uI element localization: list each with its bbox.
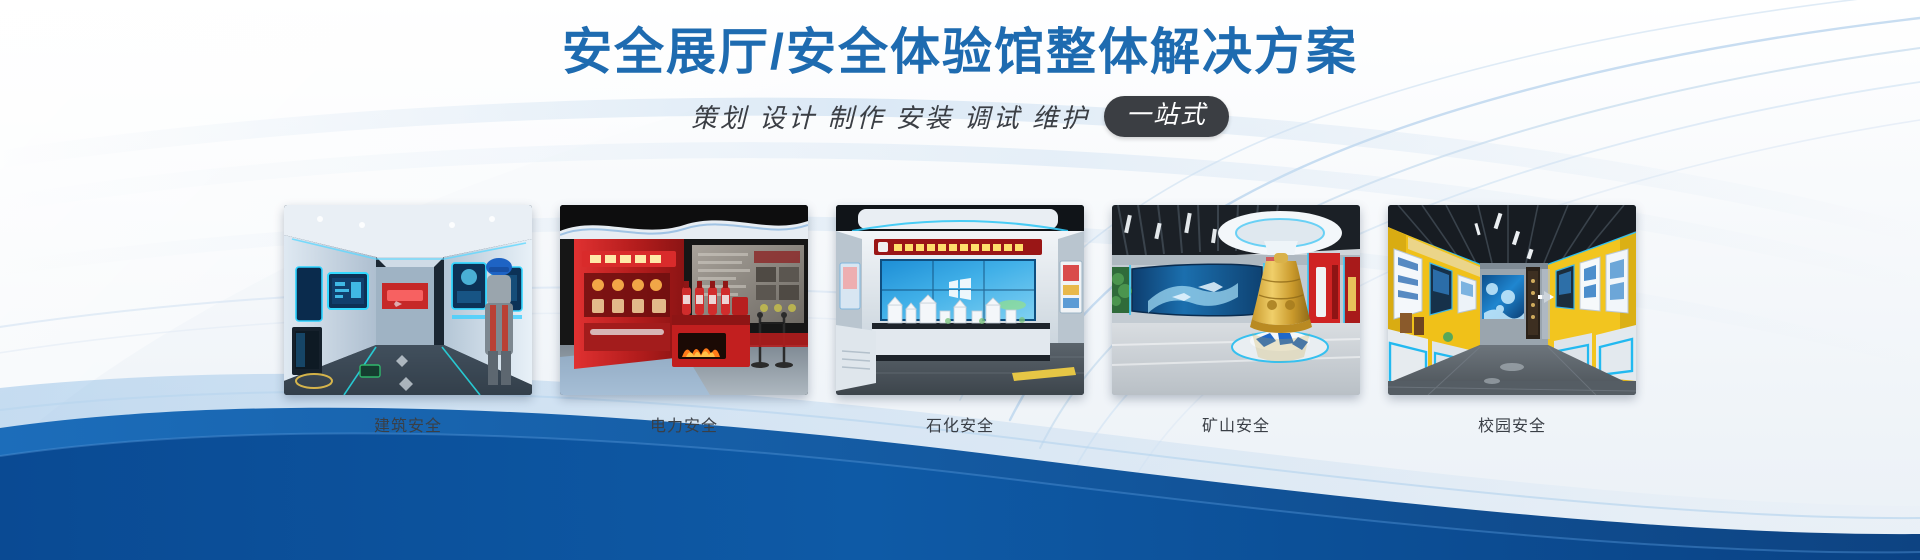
gallery-caption: 电力安全 bbox=[560, 412, 808, 436]
thumbnail-electric-safety[interactable] bbox=[560, 205, 808, 395]
gallery-caption: 石化安全 bbox=[836, 412, 1084, 436]
gallery-item[interactable]: 矿山安全 bbox=[1112, 205, 1360, 436]
solution-gallery: 建筑安全 bbox=[284, 205, 1636, 436]
promo-banner: 安全展厅/安全体验馆整体解决方案 策划 设计 制作 安装 调试 维护 一站式 bbox=[0, 0, 1920, 560]
mine-safety-image bbox=[1112, 205, 1360, 395]
gallery-caption: 矿山安全 bbox=[1112, 412, 1360, 436]
petrochemical-safety-image bbox=[836, 205, 1084, 395]
thumbnail-mine-safety[interactable] bbox=[1112, 205, 1360, 395]
gallery-item[interactable]: 建筑安全 bbox=[284, 205, 532, 436]
electric-safety-image bbox=[560, 205, 808, 395]
one-stop-badge: 一站式 bbox=[1104, 96, 1229, 137]
thumbnail-construction-safety[interactable] bbox=[284, 205, 532, 395]
service-list-text: 策划 设计 制作 安装 调试 维护 bbox=[691, 98, 1090, 135]
gallery-item[interactable]: 石化安全 bbox=[836, 205, 1084, 436]
gallery-item[interactable]: 电力安全 bbox=[560, 205, 808, 436]
thumbnail-campus-safety[interactable] bbox=[1388, 205, 1636, 395]
thumbnail-petrochemical-safety[interactable] bbox=[836, 205, 1084, 395]
gallery-caption: 建筑安全 bbox=[284, 412, 532, 436]
headline-block: 安全展厅/安全体验馆整体解决方案 策划 设计 制作 安装 调试 维护 一站式 bbox=[0, 24, 1920, 137]
campus-safety-image bbox=[1388, 205, 1636, 395]
gallery-caption: 校园安全 bbox=[1388, 412, 1636, 436]
subtitle-row: 策划 设计 制作 安装 调试 维护 一站式 bbox=[0, 96, 1920, 137]
construction-safety-image bbox=[284, 205, 532, 395]
page-title: 安全展厅/安全体验馆整体解决方案 bbox=[0, 24, 1920, 80]
gallery-item[interactable]: 校园安全 bbox=[1388, 205, 1636, 436]
